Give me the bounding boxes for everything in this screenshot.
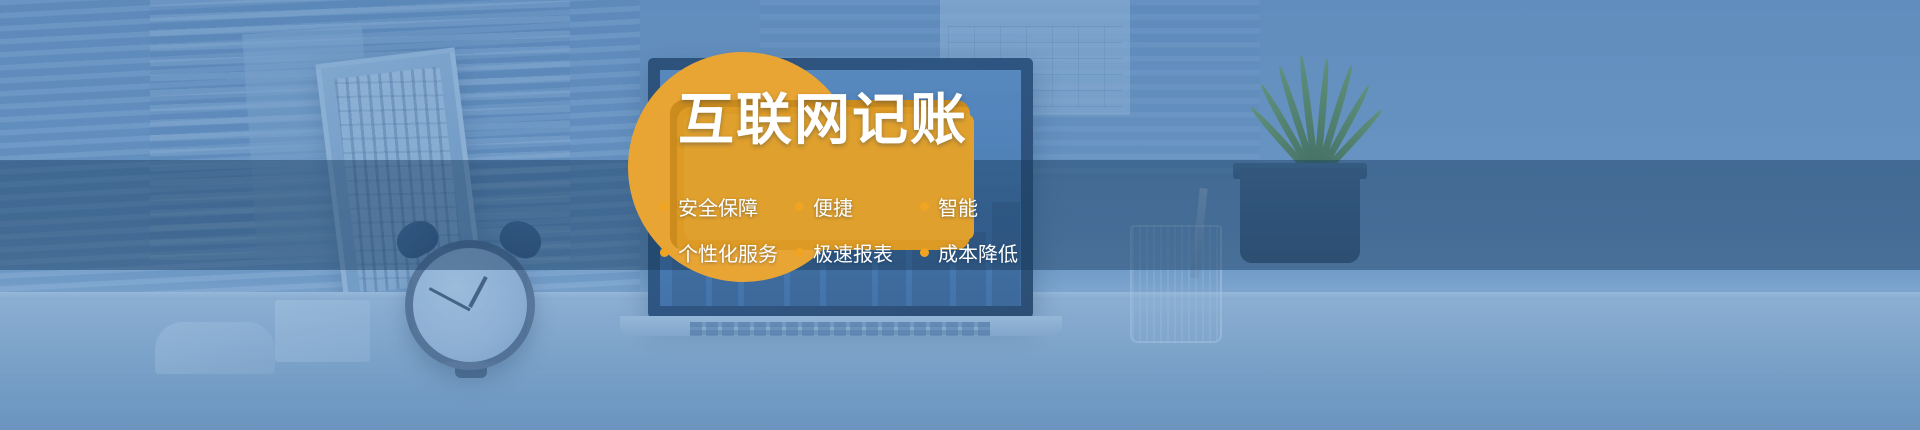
feature-label: 成本降低 <box>938 238 1018 267</box>
feature-label: 极速报表 <box>813 238 893 267</box>
bullet-dot-icon <box>920 248 929 257</box>
feature-item-fast-reports: 极速报表 <box>795 238 920 267</box>
feature-label: 智能 <box>938 192 978 221</box>
feature-item-personalized-service: 个性化服务 <box>660 238 795 267</box>
bullet-dot-icon <box>920 202 929 211</box>
feature-item-intelligent: 智能 <box>920 192 978 221</box>
banner-title: 互联网记账 <box>678 92 968 148</box>
bullet-dot-icon <box>660 248 669 257</box>
bullet-dot-icon <box>660 202 669 211</box>
feature-label: 便捷 <box>813 192 853 221</box>
feature-item-convenient: 便捷 <box>795 192 920 221</box>
feature-list: 安全保障 便捷 智能 个性化服务 极速报表 <box>660 183 1080 275</box>
banner-content: 互联网记账 安全保障 便捷 智能 个性化服务 <box>0 0 1920 430</box>
marketing-banner: 互联网记账 安全保障 便捷 智能 个性化服务 <box>0 0 1920 430</box>
feature-row: 个性化服务 极速报表 成本降低 <box>660 229 1080 275</box>
feature-item-security: 安全保障 <box>660 192 795 221</box>
feature-label: 个性化服务 <box>678 238 778 267</box>
feature-row: 安全保障 便捷 智能 <box>660 183 1080 229</box>
bullet-dot-icon <box>795 202 804 211</box>
bullet-dot-icon <box>795 248 804 257</box>
feature-label: 安全保障 <box>678 192 758 221</box>
feature-item-cost-reduction: 成本降低 <box>920 238 1018 267</box>
